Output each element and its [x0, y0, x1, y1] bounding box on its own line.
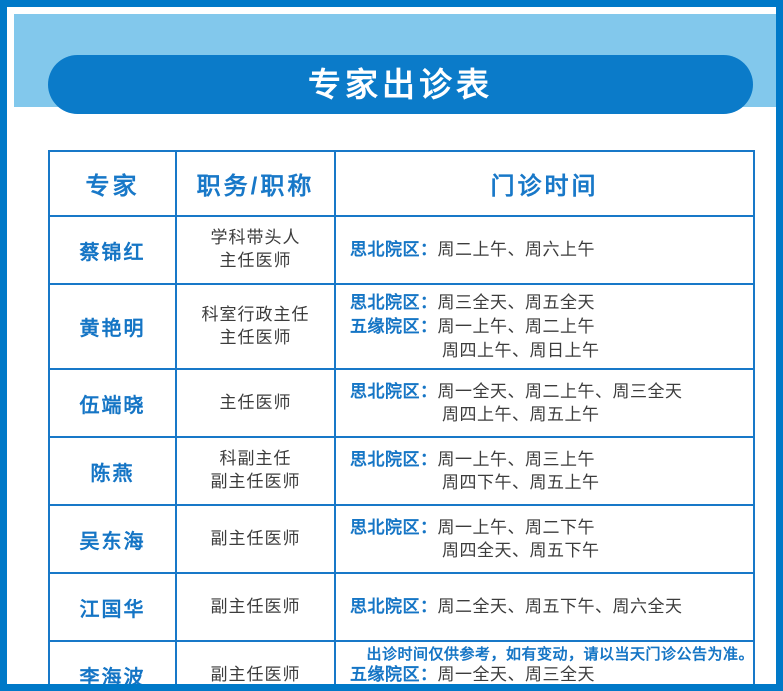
role-line: 副主任医师	[177, 664, 334, 687]
schedule-text: 周三全天、周五全天	[438, 293, 596, 312]
expert-role: 科室行政主任主任医师	[176, 284, 335, 369]
clinic-time-line: 周四上午、周五上午	[350, 403, 743, 427]
role-line: 副主任医师	[177, 471, 334, 494]
disclaimer-note: 出诊时间仅供参考，如有变动，请以当天门诊公告为准。	[366, 643, 754, 664]
role-line: 主任医师	[177, 250, 334, 273]
schedule-text: 周二上午、周六上午	[438, 240, 596, 259]
expert-name: 陈燕	[49, 437, 176, 505]
campus-label: 思北院区：	[350, 240, 438, 259]
schedule-text: 周一上午、周三上午	[438, 450, 596, 469]
clinic-time: 思北院区：周一全天、周二上午、周三全天周四上午、周五上午	[335, 369, 754, 437]
column-header-role: 职务/职称	[176, 151, 335, 216]
expert-role: 副主任医师	[176, 573, 335, 641]
table-row: 陈燕科副主任副主任医师思北院区：周一上午、周三上午周四下午、周五上午	[49, 437, 754, 505]
expert-schedule-poster: 专家出诊表 专家 职务/职称 门诊时间 蔡锦红学科带头人主任医师思北院区：周二上…	[0, 0, 783, 691]
page-title: 专家出诊表	[308, 68, 493, 101]
column-header-time: 门诊时间	[335, 151, 754, 216]
expert-role: 学科带头人主任医师	[176, 216, 335, 284]
clinic-time-line: 五缘院区：周一上午、周二上午	[350, 315, 743, 339]
table-header-row: 专家 职务/职称 门诊时间	[49, 151, 754, 216]
role-line: 主任医师	[177, 392, 334, 415]
role-line: 科室行政主任	[177, 304, 334, 327]
table-row: 黄艳明科室行政主任主任医师思北院区：周三全天、周五全天五缘院区：周一上午、周二上…	[49, 284, 754, 369]
role-line: 主任医师	[177, 327, 334, 350]
campus-label: 思北院区：	[350, 293, 438, 312]
clinic-time-line: 周四下午、周五上午	[350, 471, 743, 495]
expert-role: 主任医师	[176, 369, 335, 437]
campus-label: 思北院区：	[350, 518, 438, 537]
schedule-text: 周一上午、周二下午	[438, 518, 596, 537]
expert-name: 吴东海	[49, 505, 176, 573]
schedule-text: 周一上午、周二上午	[438, 317, 596, 336]
campus-label: 五缘院区：	[350, 317, 438, 336]
clinic-time-line: 周四上午、周日上午	[350, 339, 743, 363]
role-line: 副主任医师	[177, 528, 334, 551]
schedule-text: 周二全天、周五下午、周六全天	[438, 597, 683, 616]
clinic-time-line: 思北院区：周二上午、周六上午	[350, 238, 743, 262]
clinic-time-line: 五缘院区：周一全天、周三全天	[350, 663, 743, 687]
campus-label: 五缘院区：	[350, 665, 438, 684]
campus-label: 思北院区：	[350, 597, 438, 616]
clinic-time-line: 思北院区：周一上午、周三上午	[350, 448, 743, 472]
schedule-text: 周四下午、周五上午	[442, 473, 600, 492]
column-header-name: 专家	[49, 151, 176, 216]
clinic-time: 思北院区：周二全天、周五下午、周六全天	[335, 573, 754, 641]
clinic-time: 思北院区：周二上午、周六上午	[335, 216, 754, 284]
table-row: 江国华副主任医师思北院区：周二全天、周五下午、周六全天	[49, 573, 754, 641]
expert-name: 蔡锦红	[49, 216, 176, 284]
campus-label: 思北院区：	[350, 450, 438, 469]
schedule-table-container: 专家 职务/职称 门诊时间 蔡锦红学科带头人主任医师思北院区：周二上午、周六上午…	[48, 150, 753, 691]
clinic-time: 思北院区：周一上午、周二下午周四全天、周五下午	[335, 505, 754, 573]
clinic-time-line: 思北院区：周三全天、周五全天	[350, 291, 743, 315]
expert-role: 副主任医师	[176, 641, 335, 691]
table-row: 吴东海副主任医师思北院区：周一上午、周二下午周四全天、周五下午	[49, 505, 754, 573]
campus-label: 思北院区：	[350, 382, 438, 401]
expert-name: 黄艳明	[49, 284, 176, 369]
expert-name: 李海波	[49, 641, 176, 691]
poster-title-pill: 专家出诊表	[48, 55, 753, 114]
table-row: 伍端晓主任医师思北院区：周一全天、周二上午、周三全天周四上午、周五上午	[49, 369, 754, 437]
schedule-table: 专家 职务/职称 门诊时间 蔡锦红学科带头人主任医师思北院区：周二上午、周六上午…	[48, 150, 755, 691]
table-row: 蔡锦红学科带头人主任医师思北院区：周二上午、周六上午	[49, 216, 754, 284]
schedule-text: 周一全天、周二上午、周三全天	[438, 382, 683, 401]
role-line: 副主任医师	[177, 596, 334, 619]
schedule-text: 周四全天、周五下午	[442, 541, 600, 560]
clinic-time-line: 周四全天、周五下午	[350, 539, 743, 563]
clinic-time: 思北院区：周一上午、周三上午周四下午、周五上午	[335, 437, 754, 505]
schedule-text: 周一全天、周三全天	[438, 665, 596, 684]
expert-name: 江国华	[49, 573, 176, 641]
clinic-time: 思北院区：周三全天、周五全天五缘院区：周一上午、周二上午周四上午、周日上午	[335, 284, 754, 369]
clinic-time-line: 思北院区：周一全天、周二上午、周三全天	[350, 380, 743, 404]
schedule-text: 周四上午、周日上午	[442, 341, 600, 360]
clinic-time-line: 思北院区：周一上午、周二下午	[350, 516, 743, 540]
role-line: 科副主任	[177, 448, 334, 471]
role-line: 学科带头人	[177, 227, 334, 250]
expert-role: 副主任医师	[176, 505, 335, 573]
clinic-time-line: 思北院区：周二全天、周五下午、周六全天	[350, 595, 743, 619]
expert-role: 科副主任副主任医师	[176, 437, 335, 505]
expert-name: 伍端晓	[49, 369, 176, 437]
schedule-text: 周四上午、周五上午	[442, 405, 600, 424]
